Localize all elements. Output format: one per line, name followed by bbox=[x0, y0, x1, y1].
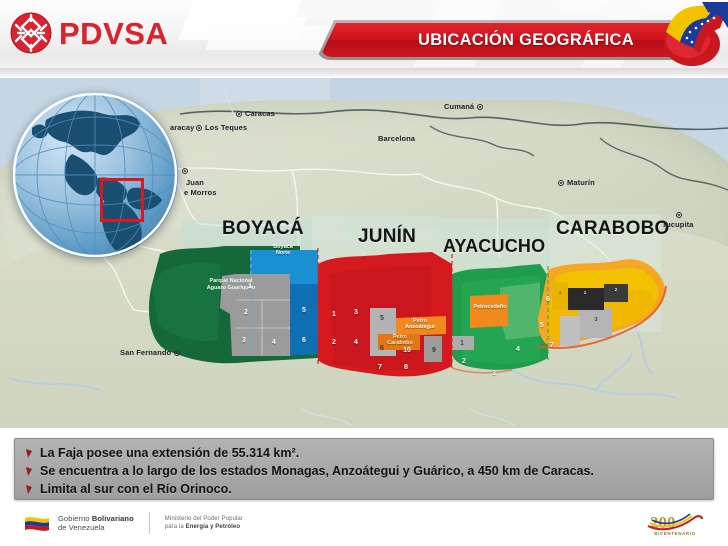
block-junin-8: 8 bbox=[398, 360, 414, 374]
block-junin-5: 5 bbox=[374, 310, 390, 326]
city-label-caracas: Caracas bbox=[236, 109, 275, 118]
block-junin-7: 7 bbox=[372, 360, 388, 374]
bullet-text: Se encuentra a lo largo de los estados M… bbox=[40, 463, 594, 479]
bullet-marker-icon bbox=[25, 482, 34, 494]
header-title-bar: UBICACIÓN GEOGRÁFICA bbox=[316, 20, 712, 60]
region-label-boyaca: BOYACÁ bbox=[222, 218, 304, 240]
city-marker-icon bbox=[196, 125, 202, 131]
city-label-san-juan: Juan bbox=[186, 178, 204, 187]
city-label-maracay: aracay bbox=[170, 123, 194, 132]
block-junin-2: 2 bbox=[326, 334, 342, 350]
region-label-junin: JUNÍN bbox=[358, 226, 416, 248]
government-line-1: Gobierno Bolivariano bbox=[58, 514, 134, 524]
block-boyaca-1: 1 bbox=[240, 276, 260, 296]
block-ayacucho-4: 4 bbox=[510, 342, 526, 356]
block-ayacucho-1: 1 bbox=[454, 336, 470, 350]
government-line-2: de Venezuela bbox=[58, 523, 134, 533]
block-junin-4: 4 bbox=[348, 334, 364, 350]
bullet-item: Limita al sur con el Río Orinoco. bbox=[25, 481, 703, 497]
sublabel-petro-anzoategui: Petro Anzoátegui bbox=[396, 318, 444, 331]
block-junin-9: 9 bbox=[426, 342, 442, 358]
city-marker-icon bbox=[174, 350, 180, 356]
title-bar-red: UBICACIÓN GEOGRÁFICA bbox=[320, 23, 710, 57]
block-junin-10: 10 bbox=[398, 342, 416, 358]
government-text: Gobierno Bolivariano de Venezuela bbox=[58, 514, 134, 533]
bullet-text: Limita al sur con el Río Orinoco. bbox=[40, 481, 232, 497]
map-area: BOYACÁ JUNÍN AYACUCHO CARABOBO Boyacá No… bbox=[0, 78, 728, 428]
slide-root: PDVSA UBICACIÓN GEOGRÁFICA bbox=[0, 0, 728, 546]
page-title: UBICACIÓN GEOGRÁFICA bbox=[396, 31, 634, 50]
bullet-item: Se encuentra a lo largo de los estados M… bbox=[25, 463, 703, 479]
block-boyaca-4: 4 bbox=[264, 332, 284, 352]
city-marker-icon bbox=[236, 111, 242, 117]
pdvsa-wordmark: PDVSA bbox=[59, 18, 168, 49]
footer-divider bbox=[149, 512, 150, 534]
government-logo: Gobierno Bolivariano de Venezuela Minist… bbox=[24, 512, 243, 534]
block-junin-3: 3 bbox=[348, 304, 364, 320]
city-label-los-teques: Los Teques bbox=[196, 123, 247, 132]
header-divider bbox=[0, 68, 728, 78]
bullet-panel: La Faja posee una extensión de 55.314 km… bbox=[14, 438, 714, 500]
region-label-carabobo: CARABOBO bbox=[556, 218, 670, 240]
city-marker-icon bbox=[558, 180, 564, 186]
ministry-line-2: para la Energía y Petróleo bbox=[165, 523, 243, 531]
bicentenario-logo: 200 BICENTENARIO bbox=[644, 510, 706, 540]
bullet-marker-icon bbox=[25, 464, 34, 476]
region-label-ayacucho: AYACUCHO bbox=[443, 236, 545, 257]
block-boyaca-3: 3 bbox=[234, 330, 254, 350]
slide-header: PDVSA UBICACIÓN GEOGRÁFICA bbox=[0, 0, 728, 78]
carabobo-block-label: 1 bbox=[568, 290, 602, 295]
venezuela-flag-arrow-icon bbox=[656, 0, 728, 74]
header-diagonal-shape bbox=[178, 0, 322, 40]
block-ayacucho-5: 5 bbox=[534, 318, 550, 332]
city-label-maturin: Maturín bbox=[558, 178, 595, 187]
block-boyaca-6: 6 bbox=[294, 330, 314, 350]
slide-footer: Gobierno Bolivariano de Venezuela Minist… bbox=[0, 502, 728, 546]
city-label-de-los-morros: e Morros bbox=[184, 188, 216, 197]
ministry-text: Ministerio del Poder Popular para la Ene… bbox=[165, 515, 243, 531]
city-label-san-fernando: San Fernando bbox=[120, 348, 180, 357]
sublabel-boyaca-norte: Boyacá Norte bbox=[260, 244, 306, 257]
bullet-text: La Faja posee una extensión de 55.314 km… bbox=[40, 445, 299, 461]
bullet-marker-icon bbox=[25, 446, 34, 458]
header-diagonal-shape bbox=[294, 0, 565, 18]
city-label-barcelona: Barcelona bbox=[378, 134, 415, 143]
globe-highlight-rect bbox=[100, 178, 144, 222]
block-boyaca-2: 2 bbox=[236, 302, 256, 322]
bicentenario-word: BICENTENARIO bbox=[644, 531, 706, 536]
city-label-tucupita: Tucupita bbox=[662, 220, 694, 229]
block-ayacucho-7: 7 bbox=[544, 338, 560, 352]
carabobo-block-label: 3 bbox=[584, 318, 608, 324]
block-ayacucho-6: 6 bbox=[540, 292, 556, 306]
city-label-cumana: Cumaná bbox=[444, 102, 483, 111]
city-marker-icon bbox=[182, 168, 188, 174]
block-ayacucho-3: 3 bbox=[486, 366, 502, 380]
venezuela-flag-icon bbox=[24, 515, 50, 532]
city-marker-san-juan bbox=[182, 166, 191, 175]
city-marker-icon bbox=[676, 212, 682, 218]
ministry-line-1: Ministerio del Poder Popular bbox=[165, 515, 243, 523]
pdvsa-emblem-icon bbox=[10, 12, 52, 54]
pdvsa-logo: PDVSA bbox=[10, 12, 168, 54]
globe-inset bbox=[12, 92, 178, 258]
carabobo-block-label: 2 bbox=[606, 287, 626, 292]
block-junin-6: 6 bbox=[374, 340, 390, 356]
city-marker-icon bbox=[477, 104, 483, 110]
block-ayacucho-2: 2 bbox=[456, 354, 472, 368]
bullet-item: La Faja posee una extensión de 55.314 km… bbox=[25, 445, 703, 461]
city-marker-tucupita bbox=[676, 210, 685, 219]
sublabel-petrocedeno: Petrocedeño bbox=[470, 304, 510, 310]
block-junin-1: 1 bbox=[326, 306, 342, 322]
block-boyaca-5: 5 bbox=[294, 300, 314, 320]
